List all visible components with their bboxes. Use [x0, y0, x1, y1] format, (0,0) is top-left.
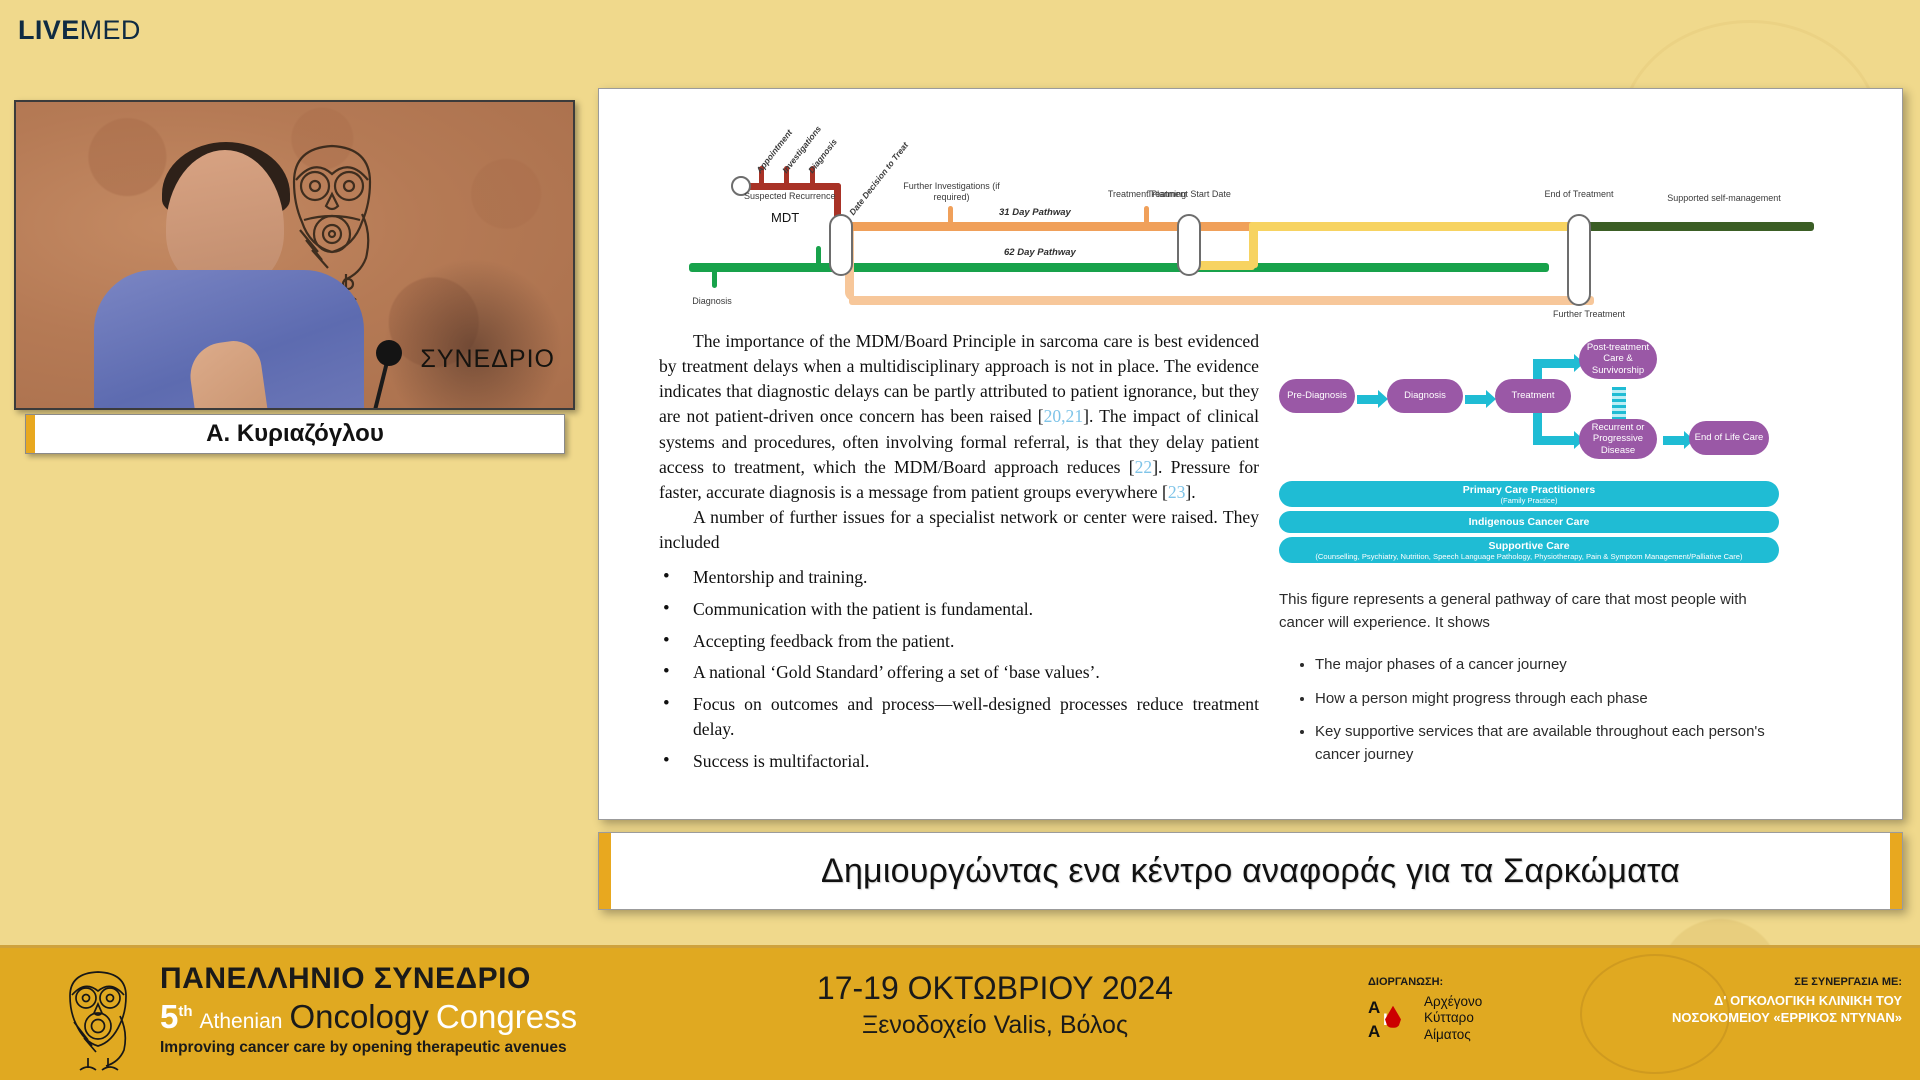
journey-node-end-of-life-care: End of Life Care [1689, 421, 1769, 455]
aka-letter-1: Α [1368, 998, 1380, 1018]
arrow-treatment-to-recurrent [1533, 436, 1575, 445]
speaker-video[interactable]: ΣΥΝΕΔΡΙΟ [14, 100, 575, 410]
care-bar-supportive-care: Supportive Care (Counselling, Psychiatry… [1279, 537, 1779, 563]
logo-med: MED [80, 15, 141, 45]
video-shadow [383, 258, 563, 408]
pathway-label-31-day: 31 Day Pathway [999, 207, 1071, 218]
banner-date: 17-19 ΟΚΤΩΒΡΙΟΥ 2024 [760, 970, 1230, 1007]
owl-icon [52, 964, 147, 1074]
journey-node-diagnosis: Diagnosis [1387, 379, 1463, 413]
citation-22: 22 [1135, 457, 1153, 477]
banner-organizer: ΔΙΟΡΓΑΝΩΣΗ: Α Κ Α Αρχέγονο Κύτταρο Αίματ… [1368, 976, 1482, 1043]
figure-explanation: This figure represents a general pathway… [1279, 589, 1779, 777]
care-bar-title: Indigenous Cancer Care [1469, 516, 1590, 528]
pathway-line-yellow [1249, 222, 1584, 231]
cancer-journey-diagram: Pre-Diagnosis Diagnosis Treatment Post-t… [1279, 339, 1849, 554]
organizer-caption: ΔΙΟΡΓΑΝΩΣΗ: [1368, 976, 1482, 988]
pathway-tick-further-investigations [948, 206, 953, 224]
microphone-icon [376, 340, 402, 366]
list-item: Communication with the patient is fundam… [659, 597, 1259, 622]
arrow-recurrent-to-endoflife [1663, 436, 1685, 445]
list-item: A national ‘Gold Standard’ offering a se… [659, 660, 1259, 685]
journey-node-pre-diagnosis: Pre-Diagnosis [1279, 379, 1355, 413]
arrow-posttreatment-to-recurrent [1612, 387, 1626, 421]
slide-title: Δημιουργώντας ενα κέντρο αναφοράς για τα… [821, 852, 1680, 891]
logo-live: LIVE [18, 15, 80, 45]
pathway-line-self-management [1574, 222, 1814, 231]
list-item: Focus on outcomes and process—well-desig… [659, 692, 1259, 742]
speaker-name: Α. Κυριαζόγλου [206, 420, 384, 448]
list-item: Success is multifactorial. [659, 749, 1259, 774]
pathway-label-62-day: 62 Day Pathway [1004, 247, 1076, 258]
care-bar-subtitle: (Counselling, Psychiatry, Nutrition, Spe… [1315, 552, 1742, 561]
banner-oncology: Oncology [289, 998, 428, 1036]
aka-letters-icon: Α Κ Α [1368, 996, 1416, 1042]
pathway-line-further-treatment [849, 296, 1594, 305]
organizer-name-line-1: Αρχέγονο [1424, 994, 1482, 1010]
pathway-tick-treatment-planning [1144, 206, 1149, 224]
speaker-nameplate: Α. Κυριαζόγλου [25, 414, 565, 454]
issues-bullet-list: Mentorship and training. Communication w… [659, 565, 1259, 774]
pathway-label-treatment-start-date: Treatment Start Date [1139, 189, 1239, 200]
pathway-node-treatment-start [1177, 214, 1201, 276]
explanation-list: The major phases of a cancer journey How… [1279, 654, 1779, 766]
care-bar-title: Primary Care Practitioners [1463, 484, 1595, 496]
backdrop-text: ΣΥΝΕΔΡΙΟ [420, 345, 555, 374]
organizer-name: Αρχέγονο Κύτταρο Αίματος [1424, 994, 1482, 1043]
citation-20-21: 20,21 [1044, 406, 1084, 426]
pathway-node-mdt [829, 214, 853, 276]
pathway-label-further-investigations: Further Investigations (if required) [899, 181, 1004, 202]
collaborator-caption: ΣΕ ΣΥΝΕΡΓΑΣΙΑ ΜΕ: [1672, 976, 1902, 988]
collaborator-line-1: Δ' ΟΓΚΟΛΟΓΙΚΗ ΚΛΙΝΙΚΗ ΤΟΥ [1672, 993, 1902, 1010]
presentation-slide[interactable]: Appointment Investigations Diagnosis Dat… [598, 88, 1903, 820]
livemed-logo: LIVEMED [18, 15, 141, 46]
banner-title-group: ΠΑΝΕΛΛΗΝΙΟ ΣΥΝΕΔΡΙΟ 5th Athenian Oncolog… [160, 962, 577, 1057]
arrow-treatment-to-posttreatment [1533, 359, 1575, 368]
list-item: Mentorship and training. [659, 565, 1259, 590]
pathway-label-suspected-recurrence: Suspected Recurrence [744, 191, 874, 202]
banner-collaborator: ΣΕ ΣΥΝΕΡΓΑΣΙΑ ΜΕ: Δ' ΟΓΚΟΛΟΓΙΚΗ ΚΛΙΝΙΚΗ … [1672, 976, 1902, 1027]
slide-title-bar: Δημιουργώντας ενα κέντρο αναφοράς για τα… [598, 832, 1903, 910]
arrow-prediagnosis-to-diagnosis [1357, 395, 1379, 404]
list-item: Accepting feedback from the patient. [659, 629, 1259, 654]
pathway-node-end-of-treatment [1567, 214, 1591, 306]
explanation-intro: This figure represents a general pathway… [1279, 589, 1779, 634]
pathway-label-date-decision-to-treat: Date Decision to Treat [847, 140, 910, 217]
list-item: How a person might progress through each… [1315, 688, 1779, 711]
banner-date-venue: 17-19 ΟΚΤΩΒΡΙΟΥ 2024 Ξενοδοχείο Valis, Β… [760, 970, 1230, 1040]
aka-letter-3: Α [1368, 1022, 1380, 1042]
paragraph-2: A number of further issues for a special… [659, 505, 1259, 555]
care-bar-title: Supportive Care [1488, 540, 1569, 552]
pathway-label-supported-self-management: Supported self-management [1639, 193, 1809, 204]
banner-congress: Congress [436, 998, 577, 1036]
pathway-label-end-of-treatment: End of Treatment [1534, 189, 1624, 200]
journey-node-recurrent-progressive: Recurrent or Progressive Disease [1579, 419, 1657, 459]
arrow-diagnosis-to-treatment [1465, 395, 1487, 404]
pathway-tick-green2 [816, 246, 821, 266]
banner-edition-number: 5th [160, 998, 193, 1036]
banner-line-1: ΠΑΝΕΛΛΗΝΙΟ ΣΥΝΕΔΡΙΟ [160, 962, 577, 996]
citation-23: 23 [1168, 482, 1186, 502]
care-bar-primary-care: Primary Care Practitioners (Family Pract… [1279, 481, 1779, 507]
cancer-pathway-diagram: Appointment Investigations Diagnosis Dat… [599, 111, 1903, 321]
organizer-name-line-3: Αίματος [1424, 1027, 1482, 1043]
paragraph-1: The importance of the MDM/Board Principl… [659, 329, 1259, 505]
journey-node-post-treatment-care: Post-treatment Care & Survivorship [1579, 339, 1657, 379]
paragraph-1-part-d: ]. [1185, 482, 1195, 502]
pathway-label-mdt: MDT [771, 210, 799, 225]
list-item: Key supportive services that are availab… [1315, 721, 1779, 766]
slide-body-text: The importance of the MDM/Board Principl… [659, 329, 1259, 781]
congress-banner: ΠΑΝΕΛΛΗΝΙΟ ΣΥΝΕΔΡΙΟ 5th Athenian Oncolog… [0, 945, 1920, 1080]
organizer-name-line-2: Κύτταρο [1424, 1010, 1482, 1026]
care-bar-indigenous-cancer-care: Indigenous Cancer Care [1279, 511, 1779, 533]
banner-venue: Ξενοδοχείο Valis, Βόλος [760, 1011, 1230, 1040]
banner-tagline: Improving cancer care by opening therape… [160, 1039, 577, 1057]
care-bar-subtitle: (Family Practice) [1501, 496, 1558, 505]
pathway-label-diagnosis-bottom: Diagnosis [677, 296, 747, 307]
journey-node-treatment: Treatment [1495, 379, 1571, 413]
pathway-tick-diagnosis-green [712, 268, 717, 288]
collaborator-name: Δ' ΟΓΚΟΛΟΓΙΚΗ ΚΛΙΝΙΚΗ ΤΟΥ ΝΟΣΟΚΟΜΕΙΟΥ «Ε… [1672, 993, 1902, 1027]
collaborator-line-2: ΝΟΣΟΚΟΜΕΙΟΥ «ΕΡΡΙΚΟΣ ΝΤΥΝΑΝ» [1672, 1010, 1902, 1027]
banner-athenian: Athenian [200, 1010, 283, 1034]
list-item: The major phases of a cancer journey [1315, 654, 1779, 677]
banner-line-2: 5th Athenian Oncology Congress [160, 998, 577, 1036]
pathway-label-further-treatment: Further Treatment [1529, 309, 1649, 320]
organizer-logo: Α Κ Α Αρχέγονο Κύτταρο Αίματος [1368, 994, 1482, 1043]
